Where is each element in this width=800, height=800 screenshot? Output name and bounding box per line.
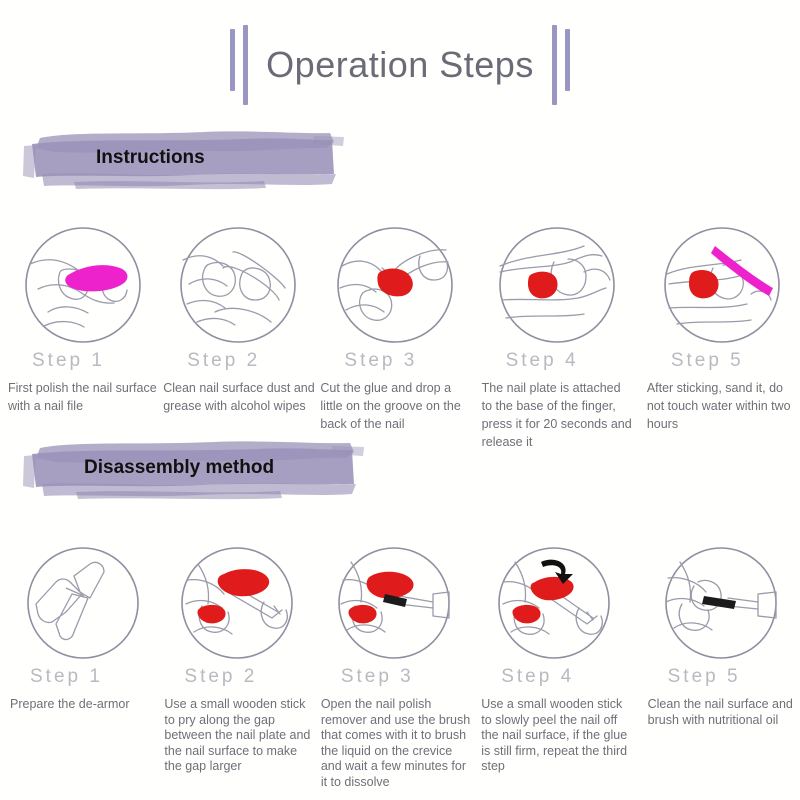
step-card: Step 4 The nail plate is attached to the… [480,226,635,451]
step-card: Step 2 Use a small wooden stick to pry a… [162,546,316,790]
step-card: Step 3 Open the nail polish remover and … [319,546,473,790]
step-label: Step 2 [162,666,316,688]
step-description: The nail plate is attached to the base o… [480,379,634,451]
step-illustration-press-nail-plate [498,226,616,344]
step-label: Step 4 [480,350,635,372]
title-decoration-left [230,25,248,105]
section-banner-disassembly: Disassembly method [14,432,364,504]
step-illustration-brush-remover [337,546,451,660]
title-decoration-right [552,25,570,105]
banner-label: Disassembly method [84,457,274,479]
step-description: Prepare the de-armor [8,697,160,713]
step-label: Step 1 [8,666,162,688]
step-description: Use a small wooden stick to pry along th… [162,697,314,775]
step-illustration-brush-nutritional-oil [664,546,778,660]
step-illustration-hand-with-nail-file [24,226,142,344]
step-label: Step 3 [319,666,473,688]
banner-label: Instructions [96,147,205,169]
step-description: After sticking, sand it, do not touch wa… [645,379,799,433]
step-illustration-glue-drop-on-nail [336,226,454,344]
section-banner-instructions: Instructions [14,122,344,194]
step-card: Step 5 After sticking, sand it, do not t… [645,226,800,451]
step-description: First polish the nail surface with a nai… [6,379,160,415]
step-card: Step 2 Clean nail surface dust and greas… [161,226,316,451]
instructions-steps-row: Step 1 First polish the nail surface wit… [0,226,800,451]
step-illustration-peel-nail-arrow [497,546,611,660]
decor-bar-icon [552,25,557,105]
step-label: Step 4 [479,666,633,688]
disassembly-steps-row: Step 1 Prepare the de-armor [0,546,800,790]
step-card: Step 4 Use a small wooden stick to slowl… [479,546,633,790]
step-label: Step 5 [645,350,800,372]
page-title-block: Operation Steps [0,20,800,110]
step-description: Cut the glue and drop a little on the gr… [318,379,472,433]
step-illustration-wooden-stick-tool [26,546,140,660]
decor-bar-icon [230,29,235,91]
decor-bar-icon [565,29,570,91]
step-label: Step 5 [646,666,800,688]
step-illustration-hand-with-alcohol-wipe [179,226,297,344]
step-card: Step 3 Cut the glue and drop a little on… [318,226,473,451]
step-card: Step 1 Prepare the de-armor [8,546,162,790]
step-description: Clean nail surface dust and grease with … [161,379,315,415]
step-description: Use a small wooden stick to slowly peel … [479,697,631,775]
step-illustration-sand-with-file [663,226,781,344]
page-title: Operation Steps [266,44,534,86]
decor-bar-icon [243,25,248,105]
step-label: Step 3 [318,350,473,372]
step-description: Clean the nail surface and brush with nu… [646,697,798,728]
step-card: Step 1 First polish the nail surface wit… [6,226,161,451]
step-label: Step 1 [6,350,161,372]
step-description: Open the nail polish remover and use the… [319,697,471,790]
step-illustration-pry-with-stick [180,546,294,660]
step-label: Step 2 [161,350,316,372]
step-card: Step 5 Clean the nail surface and brush … [646,546,800,790]
